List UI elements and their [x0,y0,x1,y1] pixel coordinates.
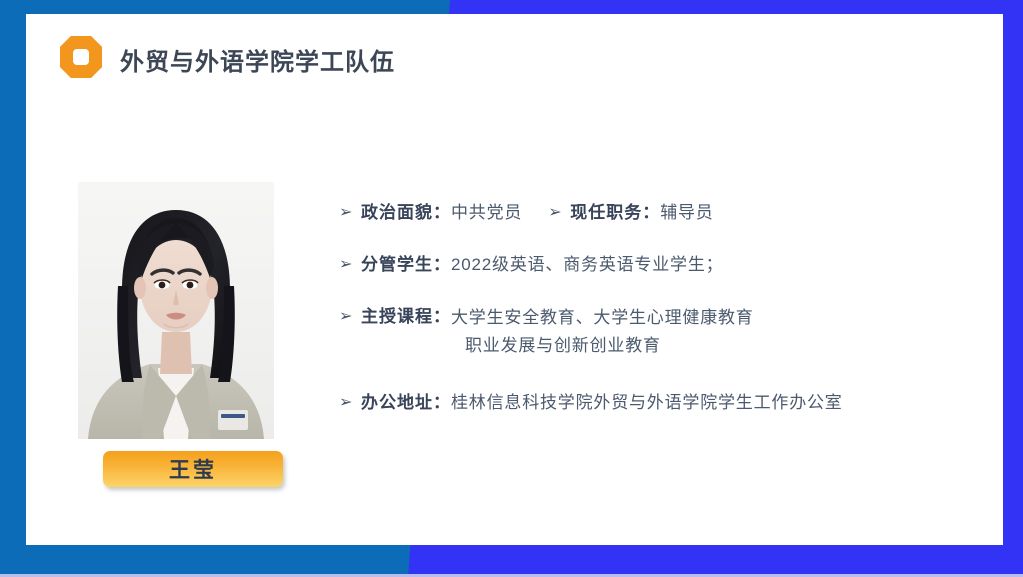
bullet-arrow-icon: ➢ [339,304,361,330]
label-students-in-charge: 分管学生： [361,252,451,278]
label-current-position: 现任职务： [570,200,660,226]
label-office-address: 办公地址： [361,390,451,416]
name-badge: 王莹 [103,451,283,487]
info-row-political-and-position: ➢ 政治面貌： 中共党员 ➢ 现任职务： 辅导员 [339,200,979,226]
info-row-students-in-charge: ➢ 分管学生： 2022级英语、商务英语专业学生； [339,252,979,278]
bullet-arrow-icon: ➢ [339,200,361,226]
label-courses-taught: 主授课程： [361,304,451,330]
course-line-2: 职业发展与创新创业教育 [451,332,754,360]
value-students-in-charge: 2022级英语、商务英语专业学生； [451,252,723,278]
bullet-arrow-icon: ➢ [339,252,361,278]
portrait-photo [78,182,274,439]
name-badge-label: 王莹 [169,454,217,484]
profile-info-list: ➢ 政治面貌： 中共党员 ➢ 现任职务： 辅导员 ➢ 分管学生： 2022级英语… [339,200,979,442]
info-row-office-address: ➢ 办公地址： 桂林信息科技学院外贸与外语学院学生工作办公室 [339,390,979,416]
bullet-arrow-icon: ➢ [339,390,361,416]
value-courses-taught: 大学生安全教育、大学生心理健康教育 职业发展与创新创业教育 [451,304,754,360]
course-line-1: 大学生安全教育、大学生心理健康教育 [451,304,754,332]
slide-root: 外贸与外语学院学工队伍 [0,0,1023,577]
label-political-status: 政治面貌： [361,200,451,226]
value-office-address: 桂林信息科技学院外贸与外语学院学生工作办公室 [451,390,843,416]
octagon-logo-icon [60,36,102,78]
value-political-status: 中共党员 [451,200,522,226]
page-title: 外贸与外语学院学工队伍 [120,42,395,77]
info-row-courses-taught: ➢ 主授课程： 大学生安全教育、大学生心理健康教育 职业发展与创新创业教育 [339,304,979,360]
bullet-arrow-icon: ➢ [548,200,570,226]
octagon-logo-center [73,49,89,65]
slide-header: 外贸与外语学院学工队伍 [26,14,1003,96]
content-card: 外贸与外语学院学工队伍 [26,14,1003,545]
value-current-position: 辅导员 [660,200,713,226]
